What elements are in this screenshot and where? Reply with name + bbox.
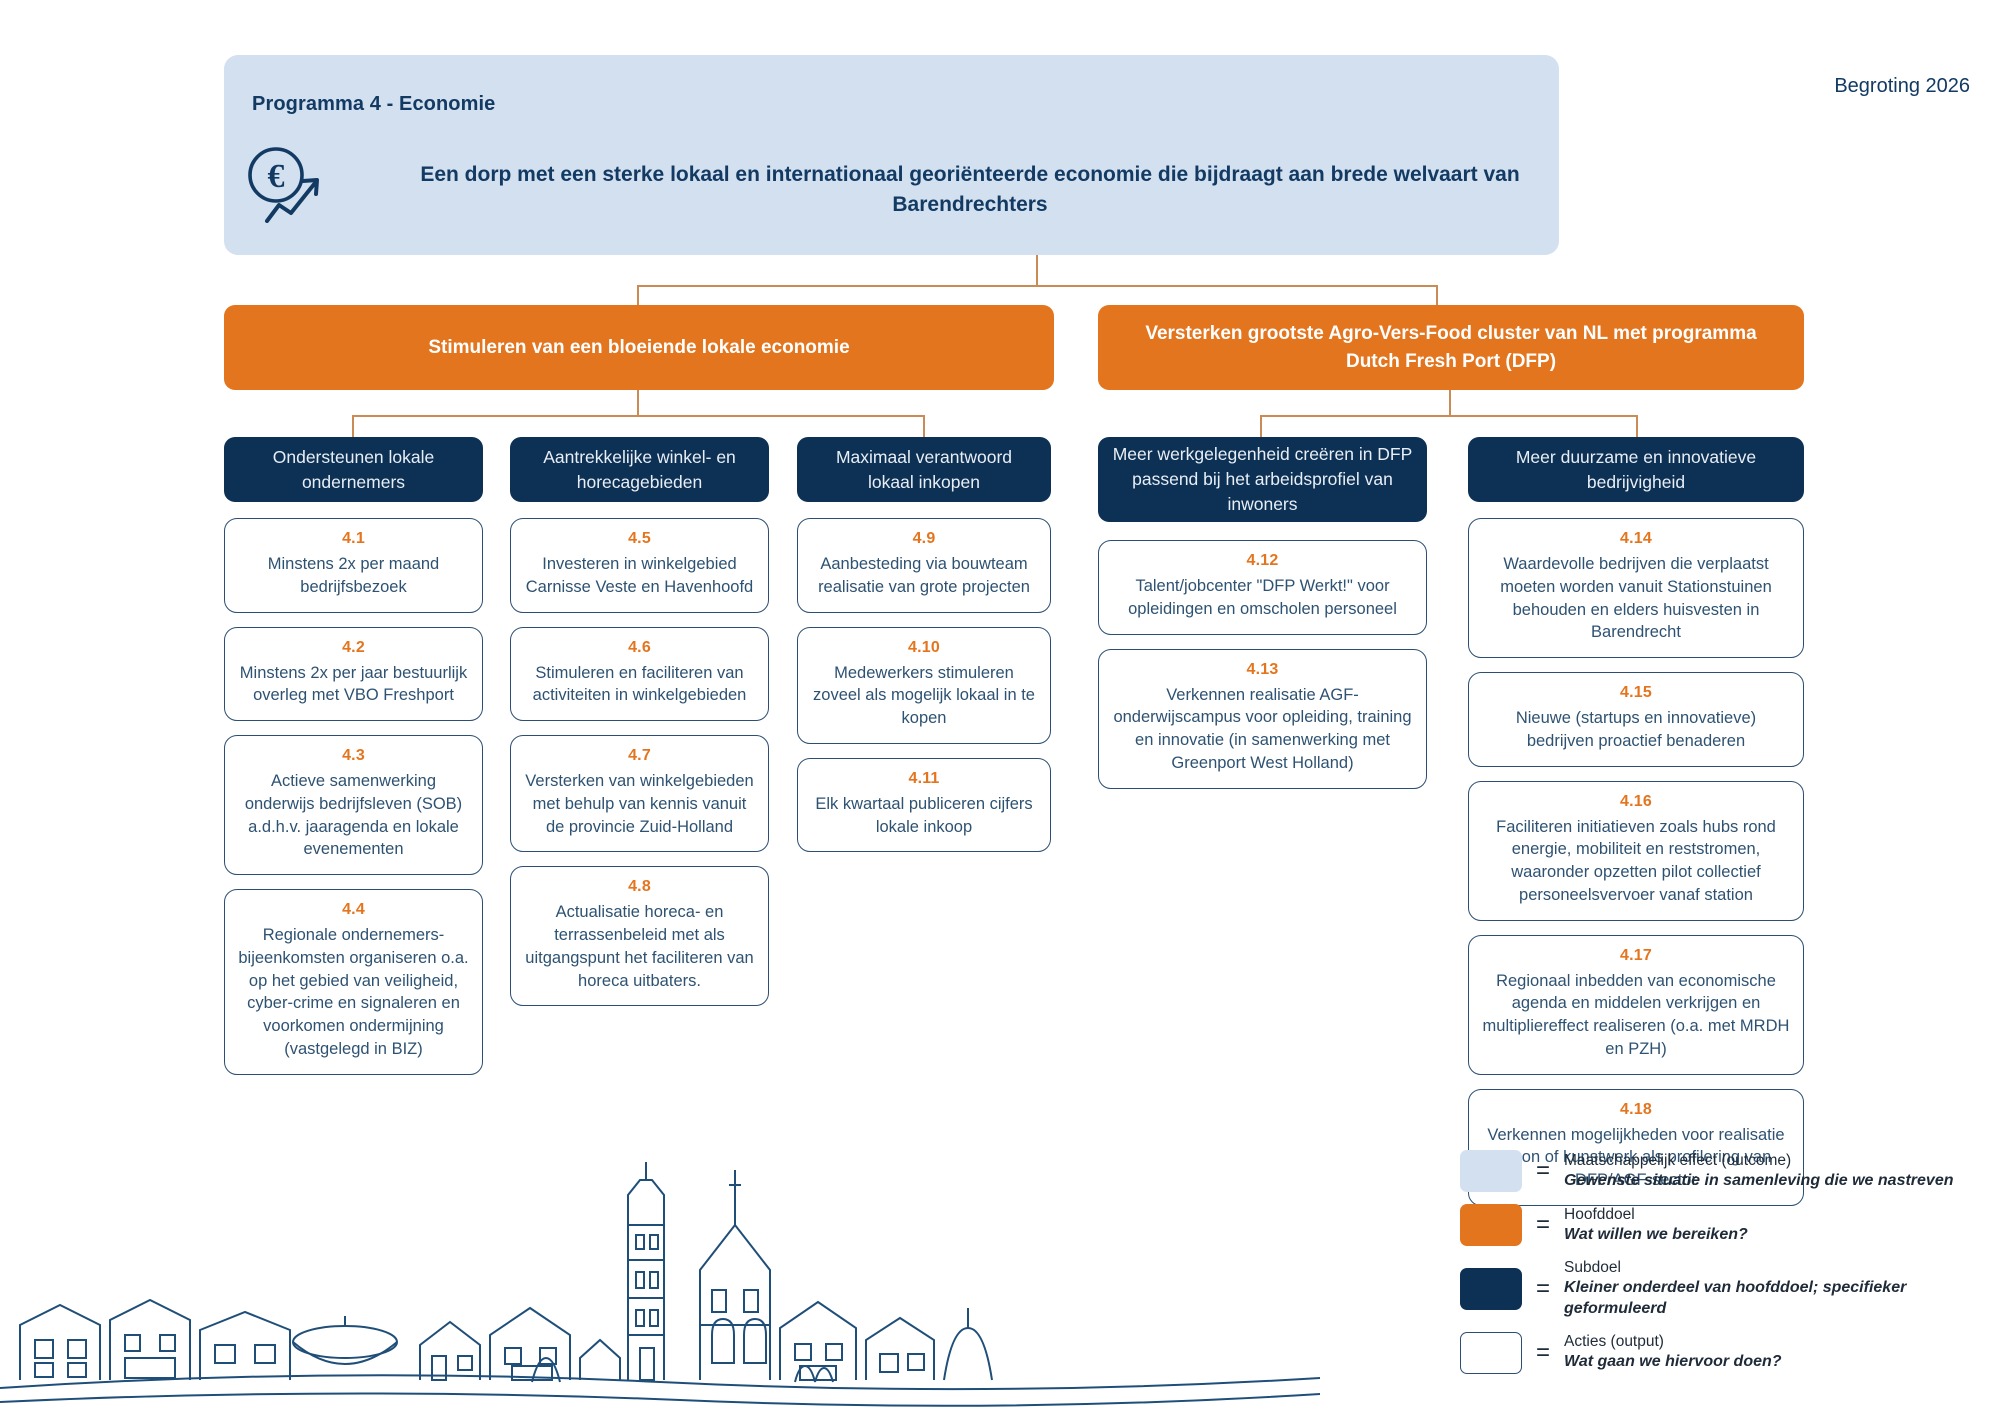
action-box-4-17[interactable]: 4.17Regionaal inbedden van economische a… bbox=[1468, 935, 1804, 1075]
action-box-4-16[interactable]: 4.16Faciliteren initiatieven zoals hubs … bbox=[1468, 781, 1804, 921]
action-number: 4.7 bbox=[524, 747, 755, 765]
legend-swatch-acties bbox=[1460, 1332, 1522, 1374]
subgoal-maximaal-verantwoord-lokaal-inkopen[interactable]: Maximaal verantwoord lokaal inkopen bbox=[797, 437, 1051, 502]
outcome-banner bbox=[224, 55, 1559, 255]
legend-equals-sign: = bbox=[1536, 1211, 1550, 1239]
budget-year-label: Begroting 2026 bbox=[1834, 75, 1970, 98]
connector bbox=[1036, 255, 1038, 285]
action-number: 4.15 bbox=[1482, 684, 1790, 702]
action-number: 4.13 bbox=[1112, 661, 1413, 679]
connector bbox=[637, 285, 1437, 287]
outcome-statement: Een dorp met een sterke lokaal en intern… bbox=[400, 160, 1540, 221]
action-column-5: 4.14Waardevolle bedrijven die verplaatst… bbox=[1468, 518, 1804, 1220]
action-number: 4.16 bbox=[1482, 793, 1790, 811]
main-goal-2[interactable]: Versterken grootste Agro-Vers-Food clust… bbox=[1098, 305, 1804, 390]
action-text: Stimuleren en faciliteren van activiteit… bbox=[524, 662, 755, 708]
legend-title: Hoofddoel bbox=[1564, 1205, 1748, 1225]
connector bbox=[1260, 415, 1637, 417]
legend-equals-sign: = bbox=[1536, 1157, 1550, 1185]
action-box-4-3[interactable]: 4.3Actieve samenwerking onderwijs bedrij… bbox=[224, 735, 483, 875]
action-text: Talent/jobcenter "DFP Werkt!" voor oplei… bbox=[1112, 575, 1413, 621]
legend-equals-sign: = bbox=[1536, 1339, 1550, 1367]
action-text: Investeren in winkelgebied Carnisse Vest… bbox=[524, 553, 755, 599]
action-number: 4.4 bbox=[238, 901, 469, 919]
action-number: 4.14 bbox=[1482, 530, 1790, 548]
action-number: 4.3 bbox=[238, 747, 469, 765]
action-box-4-14[interactable]: 4.14Waardevolle bedrijven die verplaatst… bbox=[1468, 518, 1804, 658]
action-text: Verkennen realisatie AGF-onderwijscampus… bbox=[1112, 684, 1413, 775]
euro-growth-icon: € bbox=[243, 143, 333, 223]
action-box-4-8[interactable]: 4.8Actualisatie horeca- en terrassenbele… bbox=[510, 866, 769, 1006]
legend-row-acties: = Acties (output) Wat gaan we hiervoor d… bbox=[1460, 1332, 1980, 1374]
legend-row-subdoel: = Subdoel Kleiner onderdeel van hoofddoe… bbox=[1460, 1258, 1980, 1320]
action-text: Actualisatie horeca- en terrassenbeleid … bbox=[524, 901, 755, 992]
action-box-4-15[interactable]: 4.15Nieuwe (startups en innovatieve) bed… bbox=[1468, 672, 1804, 767]
action-text: Faciliteren initiatieven zoals hubs rond… bbox=[1482, 816, 1790, 907]
connector bbox=[352, 415, 354, 437]
action-number: 4.12 bbox=[1112, 552, 1413, 570]
action-column-2: 4.5Investeren in winkelgebied Carnisse V… bbox=[510, 518, 769, 1020]
legend-equals-sign: = bbox=[1536, 1275, 1550, 1303]
subgoal-meer-werkgelegenheid-dfp[interactable]: Meer werkgelegenheid creëren in DFP pass… bbox=[1098, 437, 1427, 522]
action-box-4-13[interactable]: 4.13Verkennen realisatie AGF-onderwijsca… bbox=[1098, 649, 1427, 789]
action-box-4-2[interactable]: 4.2Minstens 2x per jaar bestuurlijk over… bbox=[224, 627, 483, 722]
connector bbox=[1260, 415, 1262, 437]
connector bbox=[637, 285, 639, 307]
connector bbox=[1436, 285, 1438, 307]
action-box-4-7[interactable]: 4.7Versterken van winkelgebieden met beh… bbox=[510, 735, 769, 852]
action-text: Nieuwe (startups en innovatieve) bedrijv… bbox=[1482, 707, 1790, 753]
connector bbox=[923, 415, 925, 437]
legend-title: Subdoel bbox=[1564, 1258, 1980, 1278]
action-text: Versterken van winkelgebieden met behulp… bbox=[524, 770, 755, 838]
action-number: 4.10 bbox=[811, 639, 1037, 657]
legend-description: Kleiner onderdeel van hoofddoel; specifi… bbox=[1564, 1278, 1980, 1320]
action-number: 4.6 bbox=[524, 639, 755, 657]
legend-row-hoofddoel: = Hoofddoel Wat willen we bereiken? bbox=[1460, 1204, 1980, 1246]
action-box-4-4[interactable]: 4.4Regionale ondernemers-bijeenkomsten o… bbox=[224, 889, 483, 1075]
page-title: Programma 4 - Economie bbox=[252, 93, 495, 116]
action-number: 4.2 bbox=[238, 639, 469, 657]
action-text: Regionale ondernemers-bijeenkomsten orga… bbox=[238, 924, 469, 1061]
action-text: Actieve samenwerking onderwijs bedrijfsl… bbox=[238, 770, 469, 861]
action-number: 4.11 bbox=[811, 770, 1037, 788]
legend-description: Wat willen we bereiken? bbox=[1564, 1225, 1748, 1246]
action-text: Minstens 2x per jaar bestuurlijk overleg… bbox=[238, 662, 469, 708]
action-column-4: 4.12Talent/jobcenter "DFP Werkt!" voor o… bbox=[1098, 540, 1427, 803]
main-goal-1[interactable]: Stimuleren van een bloeiende lokale econ… bbox=[224, 305, 1054, 390]
svg-text:€: € bbox=[268, 158, 285, 195]
legend-swatch-hoofddoel bbox=[1460, 1204, 1522, 1246]
action-column-1: 4.1Minstens 2x per maand bedrijfsbezoek4… bbox=[224, 518, 483, 1089]
subgoal-duurzame-innovatieve-bedrijvigheid[interactable]: Meer duurzame en innovatieve bedrijvighe… bbox=[1468, 437, 1804, 502]
connector bbox=[1636, 415, 1638, 437]
action-text: Elk kwartaal publiceren cijfers lokale i… bbox=[811, 793, 1037, 839]
action-text: Medewerkers stimuleren zoveel als mogeli… bbox=[811, 662, 1037, 730]
action-box-4-12[interactable]: 4.12Talent/jobcenter "DFP Werkt!" voor o… bbox=[1098, 540, 1427, 635]
legend-swatch-outcome bbox=[1460, 1150, 1522, 1192]
action-text: Aanbesteding via bouwteam realisatie van… bbox=[811, 553, 1037, 599]
action-box-4-9[interactable]: 4.9Aanbesteding via bouwteam realisatie … bbox=[797, 518, 1051, 613]
infographic-canvas: Programma 4 - Economie Begroting 2026 € … bbox=[0, 0, 2000, 1414]
legend-title: Acties (output) bbox=[1564, 1332, 1782, 1352]
action-number: 4.1 bbox=[238, 530, 469, 548]
legend-title: Maatschappelijk effect (outcome) bbox=[1564, 1151, 1953, 1171]
action-text: Regionaal inbedden van economische agend… bbox=[1482, 970, 1790, 1061]
legend: = Maatschappelijk effect (outcome) Gewen… bbox=[1460, 1150, 1980, 1386]
action-box-4-5[interactable]: 4.5Investeren in winkelgebied Carnisse V… bbox=[510, 518, 769, 613]
connector bbox=[352, 415, 924, 417]
legend-description: Wat gaan we hiervoor doen? bbox=[1564, 1352, 1782, 1373]
action-number: 4.9 bbox=[811, 530, 1037, 548]
action-text: Waardevolle bedrijven die verplaatst moe… bbox=[1482, 553, 1790, 644]
barendrecht-skyline-illustration bbox=[0, 1130, 1320, 1414]
action-number: 4.18 bbox=[1482, 1101, 1790, 1119]
connector bbox=[1449, 390, 1451, 415]
action-number: 4.5 bbox=[524, 530, 755, 548]
action-box-4-10[interactable]: 4.10Medewerkers stimuleren zoveel als mo… bbox=[797, 627, 1051, 744]
legend-swatch-subdoel bbox=[1460, 1268, 1522, 1310]
action-column-3: 4.9Aanbesteding via bouwteam realisatie … bbox=[797, 518, 1051, 866]
subgoal-aantrekkelijke-winkel-horecagebieden[interactable]: Aantrekkelijke winkel- en horecagebieden bbox=[510, 437, 769, 502]
action-number: 4.17 bbox=[1482, 947, 1790, 965]
legend-row-outcome: = Maatschappelijk effect (outcome) Gewen… bbox=[1460, 1150, 1980, 1192]
action-box-4-1[interactable]: 4.1Minstens 2x per maand bedrijfsbezoek bbox=[224, 518, 483, 613]
action-text: Minstens 2x per maand bedrijfsbezoek bbox=[238, 553, 469, 599]
action-box-4-11[interactable]: 4.11Elk kwartaal publiceren cijfers loka… bbox=[797, 758, 1051, 853]
subgoal-ondersteunen-lokale-ondernemers[interactable]: Ondersteunen lokale ondernemers bbox=[224, 437, 483, 502]
legend-description: Gewenste situatie in samenleving die we … bbox=[1564, 1171, 1953, 1192]
action-box-4-6[interactable]: 4.6Stimuleren en faciliteren van activit… bbox=[510, 627, 769, 722]
connector bbox=[637, 390, 639, 415]
action-number: 4.8 bbox=[524, 878, 755, 896]
